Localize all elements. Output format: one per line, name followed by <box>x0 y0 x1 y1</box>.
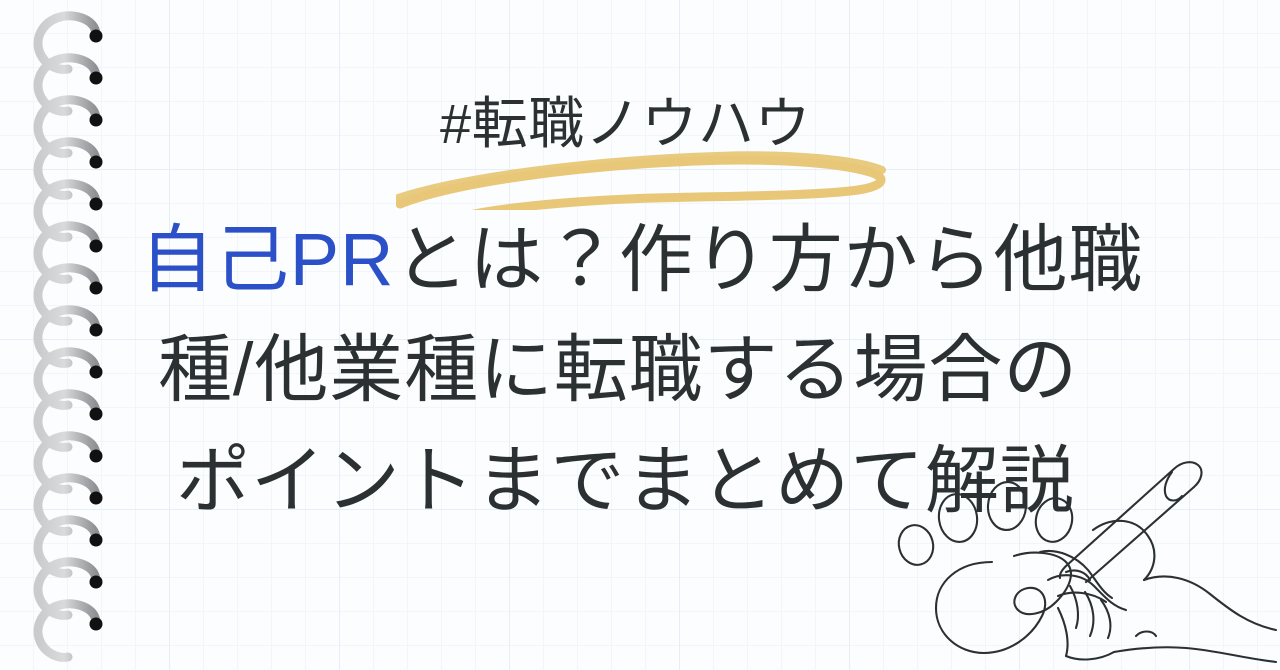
spiral-ring-tip <box>90 576 103 589</box>
spiral-ring-tip <box>90 366 103 379</box>
category-tag: #転職ノウハウ <box>440 96 811 152</box>
spiral-ring-tip <box>90 198 103 211</box>
spiral-ring-tip <box>90 282 103 295</box>
spiral-ring-tip <box>90 324 103 337</box>
spiral-ring-tip <box>90 240 103 253</box>
spiral-ring-tip <box>90 156 103 169</box>
spiral-ring-tip <box>90 534 103 547</box>
spiral-ring-group <box>38 16 102 658</box>
headline-line-3: ポイントまでまとめて解説 <box>140 426 1200 536</box>
headline-line-1-rest: とは？作り方から他職 <box>394 218 1143 301</box>
spiral-binding <box>0 0 150 670</box>
spiral-ring-tip <box>90 408 103 421</box>
spiral-ring-tip <box>90 450 103 463</box>
spiral-ring-tip <box>90 72 103 85</box>
headline-line-1: 自己PRとは？作り方から他職 <box>140 205 1200 315</box>
headline-line-2: 種/他業種に転職する場合の <box>140 315 1200 425</box>
spiral-ring-tip <box>90 30 103 43</box>
headline-accent-keyword: 自己PR <box>140 218 394 301</box>
spiral-ring-tip <box>90 114 103 127</box>
page-title: 自己PRとは？作り方から他職 種/他業種に転職する場合の ポイントまでまとめて解… <box>140 205 1200 536</box>
thumbnail-canvas: #転職ノウハウ 自己PRとは？作り方から他職 種/他業種に転職する場合の ポイン… <box>0 0 1280 670</box>
spiral-ring-tip <box>90 492 103 505</box>
spiral-ring-tip <box>90 618 103 631</box>
